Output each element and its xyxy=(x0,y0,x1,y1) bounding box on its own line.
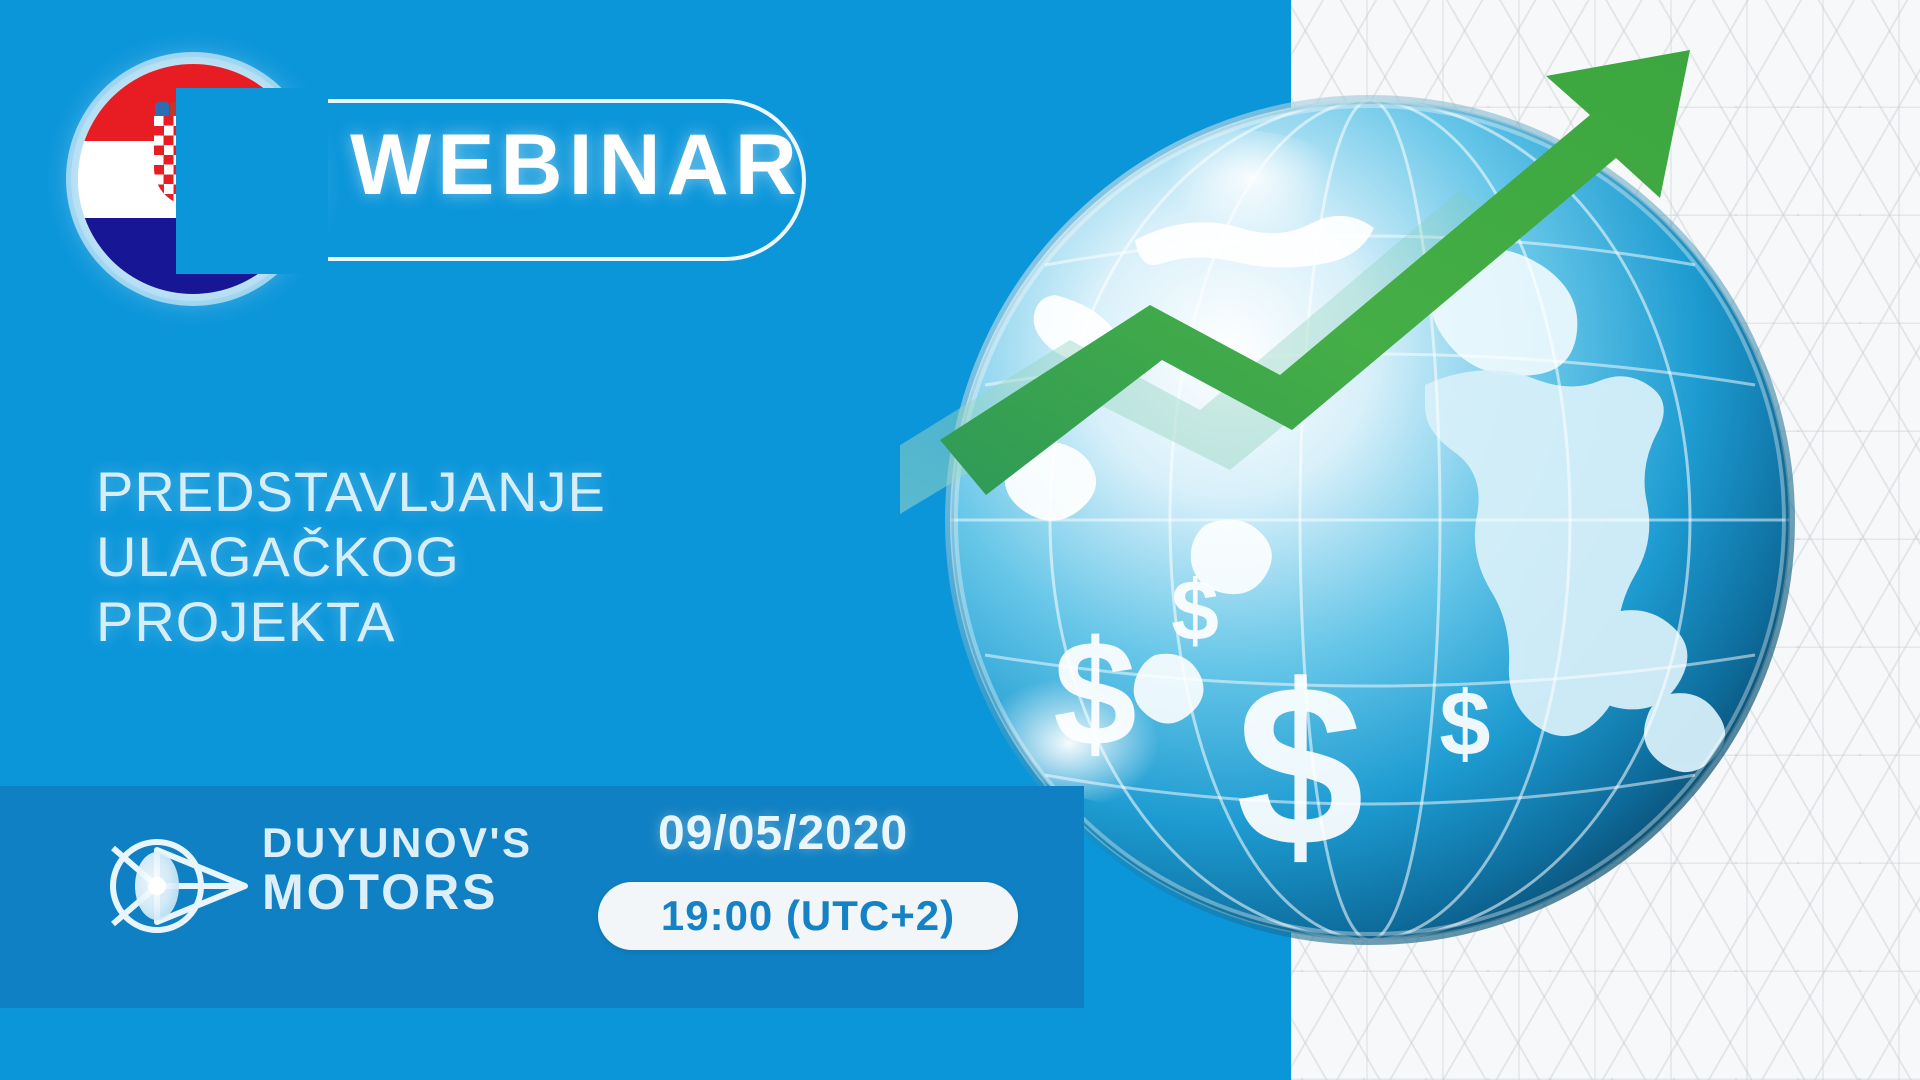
duyunov-motors-logo-icon xyxy=(95,812,255,944)
brand-name: DUYUNOV'S MOTORS xyxy=(262,820,533,919)
webinar-label: WEBINAR xyxy=(350,122,803,208)
title-line-2: ULAGAČKOG xyxy=(96,525,606,590)
webinar-banner: $ $ $ $ xyxy=(0,0,1920,1080)
event-time: 19:00 (UTC+2) xyxy=(661,892,955,940)
webinar-badge-mask xyxy=(176,88,328,274)
event-date: 09/05/2020 xyxy=(658,806,908,861)
dollar-symbol: $ xyxy=(1439,673,1490,775)
page-title: PREDSTAVLJANJE ULAGAČKOG PROJEKTA xyxy=(96,460,606,655)
event-time-pill: 19:00 (UTC+2) xyxy=(598,882,1018,950)
title-line-3: PROJEKTA xyxy=(96,590,606,655)
green-growth-arrow-icon xyxy=(900,40,1860,600)
brand-line-2: MOTORS xyxy=(262,865,533,919)
title-line-1: PREDSTAVLJANJE xyxy=(96,460,606,525)
brand-line-1: DUYUNOV'S xyxy=(262,820,533,865)
